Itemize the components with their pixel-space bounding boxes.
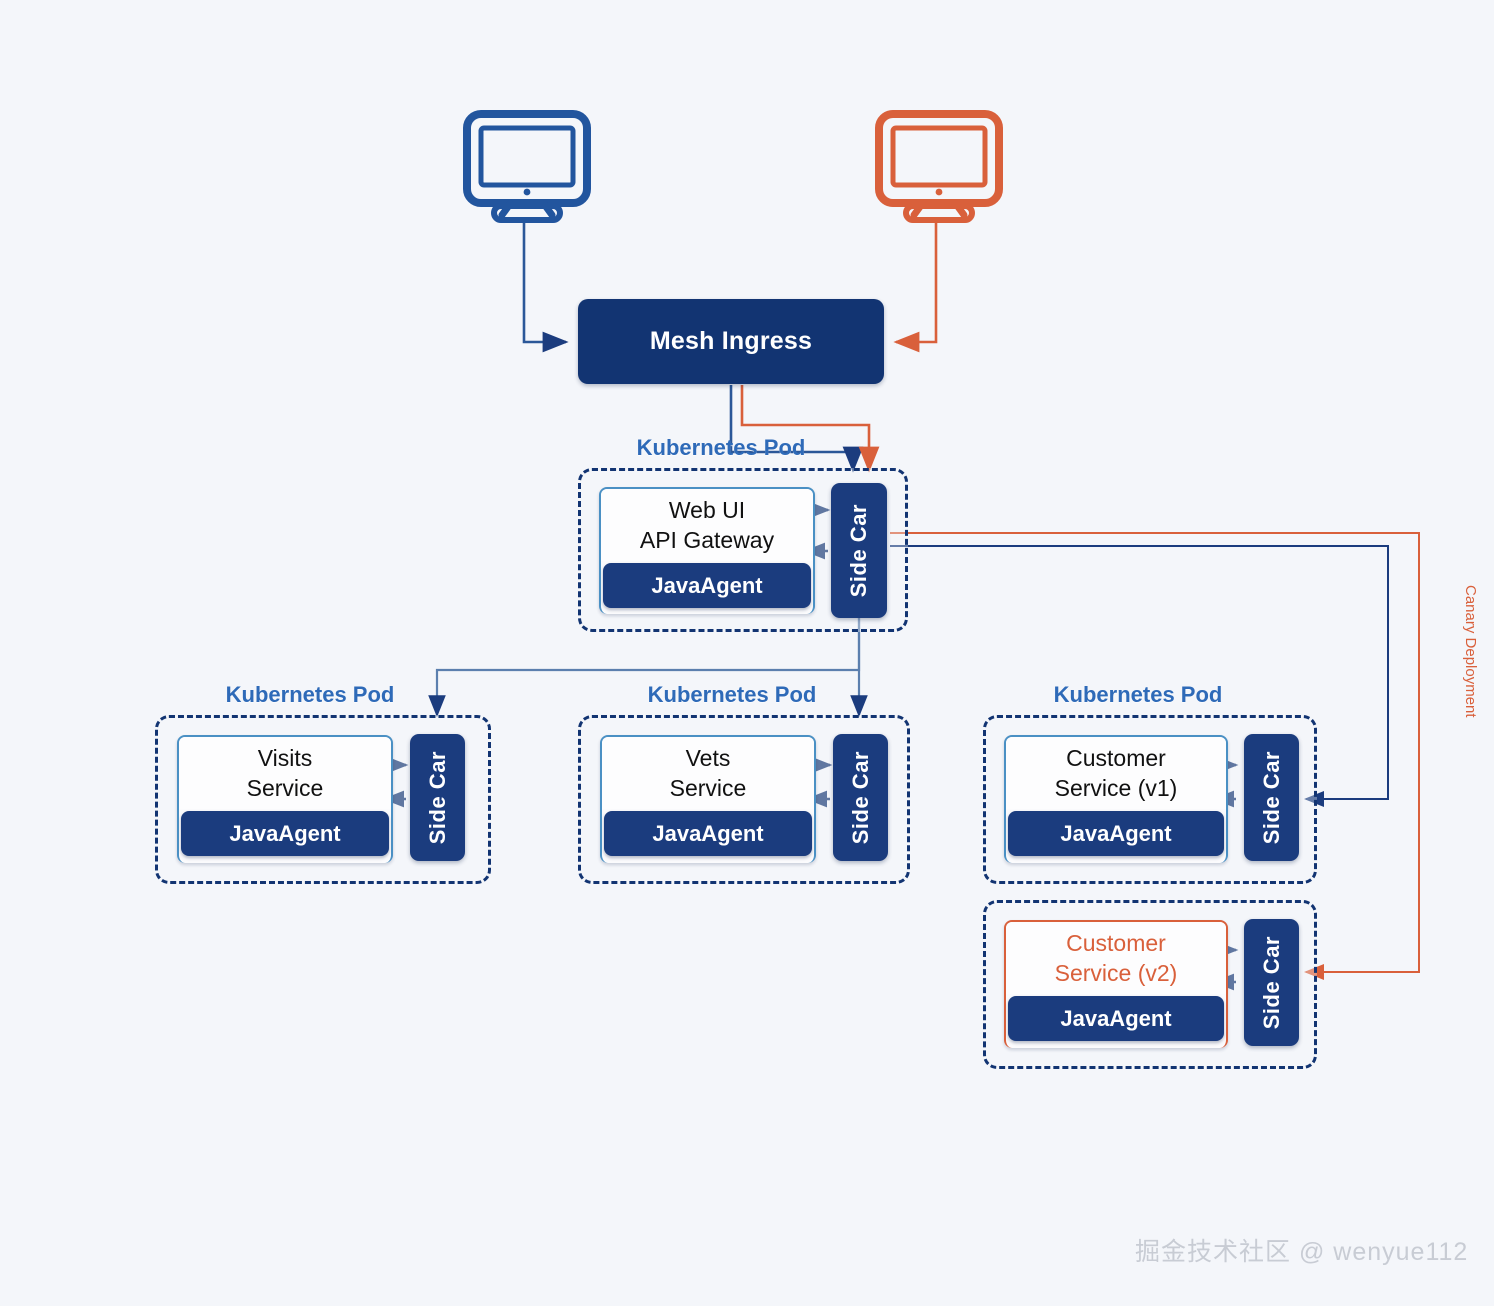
service-vets-line-1: Vets bbox=[686, 743, 731, 773]
service-web-ui-line-2: API Gateway bbox=[640, 525, 774, 555]
sidecar-customer-v1[interactable]: Side Car bbox=[1244, 734, 1299, 861]
service-vets[interactable]: Vets Service JavaAgent bbox=[600, 735, 816, 863]
canary-deployment-label: Canary Deployment bbox=[1462, 585, 1479, 718]
service-customer-v1-title: Customer Service (v1) bbox=[1006, 737, 1226, 809]
wire-orange-client-to-ingress bbox=[896, 222, 936, 342]
pod-label-web-ui: Kubernetes Pod bbox=[611, 435, 831, 461]
pod-web-ui: Web UI API Gateway JavaAgent Side Car bbox=[578, 468, 908, 632]
service-customer-v2-line-1: Customer bbox=[1066, 928, 1166, 958]
service-web-ui-title: Web UI API Gateway bbox=[601, 489, 813, 561]
pod-visits: Visits Service JavaAgent Side Car bbox=[155, 715, 491, 884]
sidecar-customer-v2-label: Side Car bbox=[1259, 936, 1285, 1029]
pod-label-vets: Kubernetes Pod bbox=[622, 682, 842, 708]
pod-vets: Vets Service JavaAgent Side Car bbox=[578, 715, 910, 884]
sidecar-visits-label: Side Car bbox=[425, 751, 451, 844]
service-customer-v2[interactable]: Customer Service (v2) JavaAgent bbox=[1004, 920, 1228, 1048]
javaagent-customer-v1: JavaAgent bbox=[1008, 811, 1224, 856]
pod-customer-v2: Customer Service (v2) JavaAgent Side Car bbox=[983, 900, 1317, 1069]
service-visits-title: Visits Service bbox=[179, 737, 391, 809]
wire-blue-client-to-ingress bbox=[524, 222, 566, 342]
service-visits-line-1: Visits bbox=[258, 743, 313, 773]
service-web-ui-line-1: Web UI bbox=[669, 495, 745, 525]
javaagent-visits: JavaAgent bbox=[181, 811, 389, 856]
service-customer-v2-line-2: Service (v2) bbox=[1055, 958, 1178, 988]
connector-layer bbox=[0, 0, 1494, 1306]
mesh-ingress-node[interactable]: Mesh Ingress bbox=[578, 299, 884, 384]
pod-label-customer-v1: Kubernetes Pod bbox=[1028, 682, 1248, 708]
sidecar-vets-label: Side Car bbox=[848, 751, 874, 844]
pod-label-visits: Kubernetes Pod bbox=[200, 682, 420, 708]
service-vets-title: Vets Service bbox=[602, 737, 814, 809]
javaagent-vets: JavaAgent bbox=[604, 811, 812, 856]
javaagent-web-ui: JavaAgent bbox=[603, 563, 811, 608]
service-customer-v1-line-1: Customer bbox=[1066, 743, 1166, 773]
javaagent-customer-v2: JavaAgent bbox=[1008, 996, 1224, 1041]
service-visits-line-2: Service bbox=[247, 773, 324, 803]
sidecar-customer-v2[interactable]: Side Car bbox=[1244, 919, 1299, 1046]
sidecar-vets[interactable]: Side Car bbox=[833, 734, 888, 861]
mesh-ingress-label: Mesh Ingress bbox=[650, 327, 812, 356]
watermark: 掘金技术社区 @ wenyue112 bbox=[1135, 1232, 1468, 1268]
architecture-diagram: Mesh Ingress Kubernetes Pod Web UI API G… bbox=[0, 0, 1494, 1306]
blue-client-monitor-icon bbox=[467, 114, 587, 220]
service-vets-line-2: Service bbox=[670, 773, 747, 803]
sidecar-customer-v1-label: Side Car bbox=[1259, 751, 1285, 844]
service-customer-v2-title: Customer Service (v2) bbox=[1006, 922, 1226, 994]
service-visits[interactable]: Visits Service JavaAgent bbox=[177, 735, 393, 863]
service-customer-v1-line-2: Service (v1) bbox=[1055, 773, 1178, 803]
orange-client-monitor-icon bbox=[879, 114, 999, 220]
pod-customer-v1: Customer Service (v1) JavaAgent Side Car bbox=[983, 715, 1317, 884]
service-web-ui[interactable]: Web UI API Gateway JavaAgent bbox=[599, 487, 815, 614]
sidecar-visits[interactable]: Side Car bbox=[410, 734, 465, 861]
service-customer-v1[interactable]: Customer Service (v1) JavaAgent bbox=[1004, 735, 1228, 863]
sidecar-web-ui[interactable]: Side Car bbox=[831, 483, 887, 618]
sidecar-web-ui-label: Side Car bbox=[846, 504, 872, 597]
